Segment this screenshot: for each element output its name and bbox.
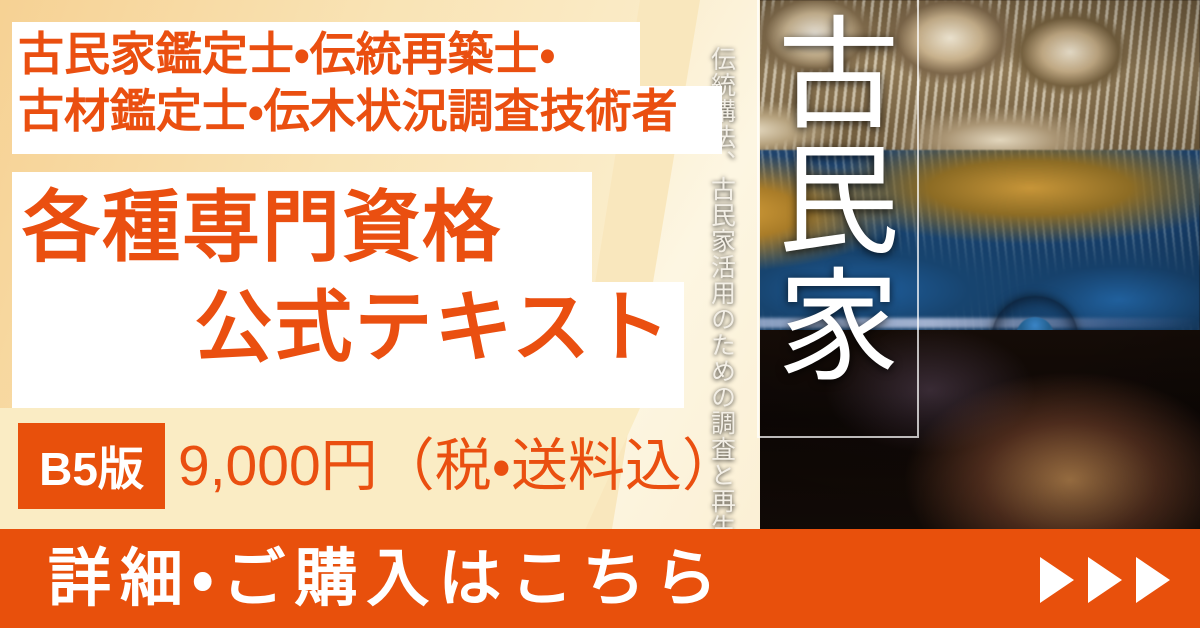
headline-line-1: 古民家鑑定士・伝統再築士・	[18, 26, 730, 83]
main-title-line-1: 各種専門資格	[22, 178, 682, 278]
main-title: 各種専門資格 公式テキスト	[22, 178, 682, 378]
cta-arrow-group	[1040, 530, 1170, 628]
price-amount: 9,000円（税・送料込）	[178, 424, 739, 508]
promo-banner[interactable]: 伝統構法、古民家活用のための調査と再生の 古民家 古民家鑑定士・伝統再築士・ 古…	[0, 0, 1200, 628]
cta-label[interactable]: 詳細・ご購入はこちら	[48, 530, 726, 628]
headline-line-2: 古材鑑定士・伝木状況調査技術者	[18, 83, 730, 140]
qualifications-headline: 古民家鑑定士・伝統再築士・ 古材鑑定士・伝木状況調査技術者	[18, 26, 730, 140]
play-arrow-icon	[1040, 557, 1074, 603]
main-title-line-2: 公式テキスト	[22, 278, 682, 378]
play-arrow-icon	[1088, 557, 1122, 603]
format-badge: B5版	[18, 423, 165, 509]
book-cover-title: 古民家	[784, 10, 894, 388]
play-arrow-icon	[1136, 557, 1170, 603]
